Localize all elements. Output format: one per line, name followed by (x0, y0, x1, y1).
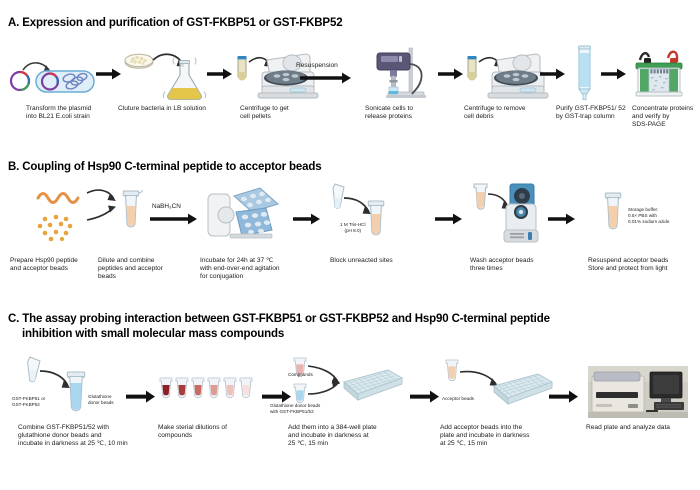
panel-c-title-line1: C. The assay probing interaction between… (8, 312, 550, 326)
microcentrifuge-icon (470, 182, 540, 246)
arrow-a4 (438, 68, 464, 80)
panel-a-title: A. Expression and purification of GST-FK… (8, 16, 342, 30)
tube-transfer-icon (18, 355, 110, 417)
arrow-c4 (549, 390, 579, 403)
plasmid-bacteria-icon (6, 54, 102, 98)
caption-sonicate-cells: Sonicate cells to release proteins (365, 105, 413, 121)
curved-arrow-peptide (86, 188, 120, 224)
caption-centrifuge-pellets: Centrifuge to get cell pellets (240, 105, 289, 121)
caption-transform-plasmid: Transform the plasmid into BL21 E.coli s… (26, 105, 91, 121)
petri-dish-flask-icon (122, 48, 214, 100)
storage-buffer-annotation: Storage buffer: 0.5× PBS with 0.01% sodi… (628, 207, 669, 224)
caption-dilute-combine: Dilute and combine peptides and acceptor… (98, 257, 163, 282)
arrow-a1 (96, 68, 122, 80)
arrow-a6 (601, 68, 627, 80)
arrow-c3 (410, 390, 440, 403)
centrifuge-icon-2 (462, 48, 552, 100)
caption-combine-donor-beads: Combine GST-FKBP51/52 with glutathione d… (18, 424, 128, 449)
arrow-c1 (126, 390, 156, 403)
arrow-a5 (540, 68, 566, 80)
compounds-annotation: Compounds (288, 372, 313, 378)
arrow-b2 (293, 213, 321, 225)
caption-centrifuge-debris: Centrifuge to remove cell debris (464, 105, 526, 121)
chromatography-column-icon (572, 45, 596, 101)
caption-purify-column: Purify GST-FKBP51/ 52 by GST-trap column (556, 105, 626, 121)
panel-b-title: B. Coupling of Hsp90 C-terminal peptide … (8, 160, 322, 174)
caption-add-acceptor-beads: Add acceptor beads into the plate and in… (440, 424, 529, 449)
rotator-icon (200, 186, 284, 244)
acceptor-beads-annotation: Acceptor beads (442, 396, 474, 402)
tris-hcl-annotation: 1 M Tris-HCl (pH 8.0) (340, 222, 366, 234)
caption-read-plate: Read plate and analyze data (586, 424, 670, 432)
caption-block-sites: Block unreacted sites (330, 257, 393, 265)
arrow-b1 (150, 213, 198, 225)
nabh3cn-label: NaBH₃CN (152, 203, 181, 211)
caption-add-to-plate: Add them into a 384-well plate and incub… (288, 424, 377, 449)
caption-prepare-peptide-beads: Prepare Hsp90 peptide and acceptor beads (10, 257, 78, 273)
gst-fkbp-annotation: GST-FKBP51 or GST-FKBP52 (12, 396, 45, 408)
panel-c-title-line2: inhibition with small molecular mass com… (22, 327, 284, 341)
arrow-a2 (207, 68, 233, 80)
arrow-a3-resuspension (300, 72, 352, 84)
caption-culture-bacteria: Cluture bacteria in LB solution (118, 105, 206, 113)
peptide-beads-icon (14, 186, 94, 244)
caption-wash-beads: Wash acceptor beads three times (470, 257, 534, 273)
pipette-tube-icon (325, 182, 405, 244)
microtube-icon (118, 190, 144, 244)
caption-resuspend-store: Resuspend acceptor beads Store and prote… (588, 257, 668, 273)
caption-incubate-conjugation: Incubate for 24h at 37 ℃ with end-over-e… (200, 257, 280, 282)
caption-concentrate-verify: Concentrate proteins and verify by SDS-P… (632, 105, 693, 130)
donor-beads-with-gst-annotation: Glutathione donor beads with GST-FKBP51/… (270, 403, 320, 415)
384-well-plate-icon-2 (440, 358, 556, 414)
storage-tube-icon (600, 192, 626, 246)
resuspension-label: Resuspension (296, 62, 338, 70)
arrow-b4 (548, 213, 576, 225)
sonicator-icon (368, 46, 434, 102)
glutathione-donor-annotation: Glutathione donor beads (88, 394, 114, 406)
caption-serial-dilutions: Make sterial dilutions of compounds (158, 424, 227, 440)
arrow-b3 (435, 213, 463, 225)
dilution-series-icon (158, 376, 258, 412)
plate-reader-icon (588, 366, 688, 418)
sds-page-tank-icon (630, 48, 688, 100)
